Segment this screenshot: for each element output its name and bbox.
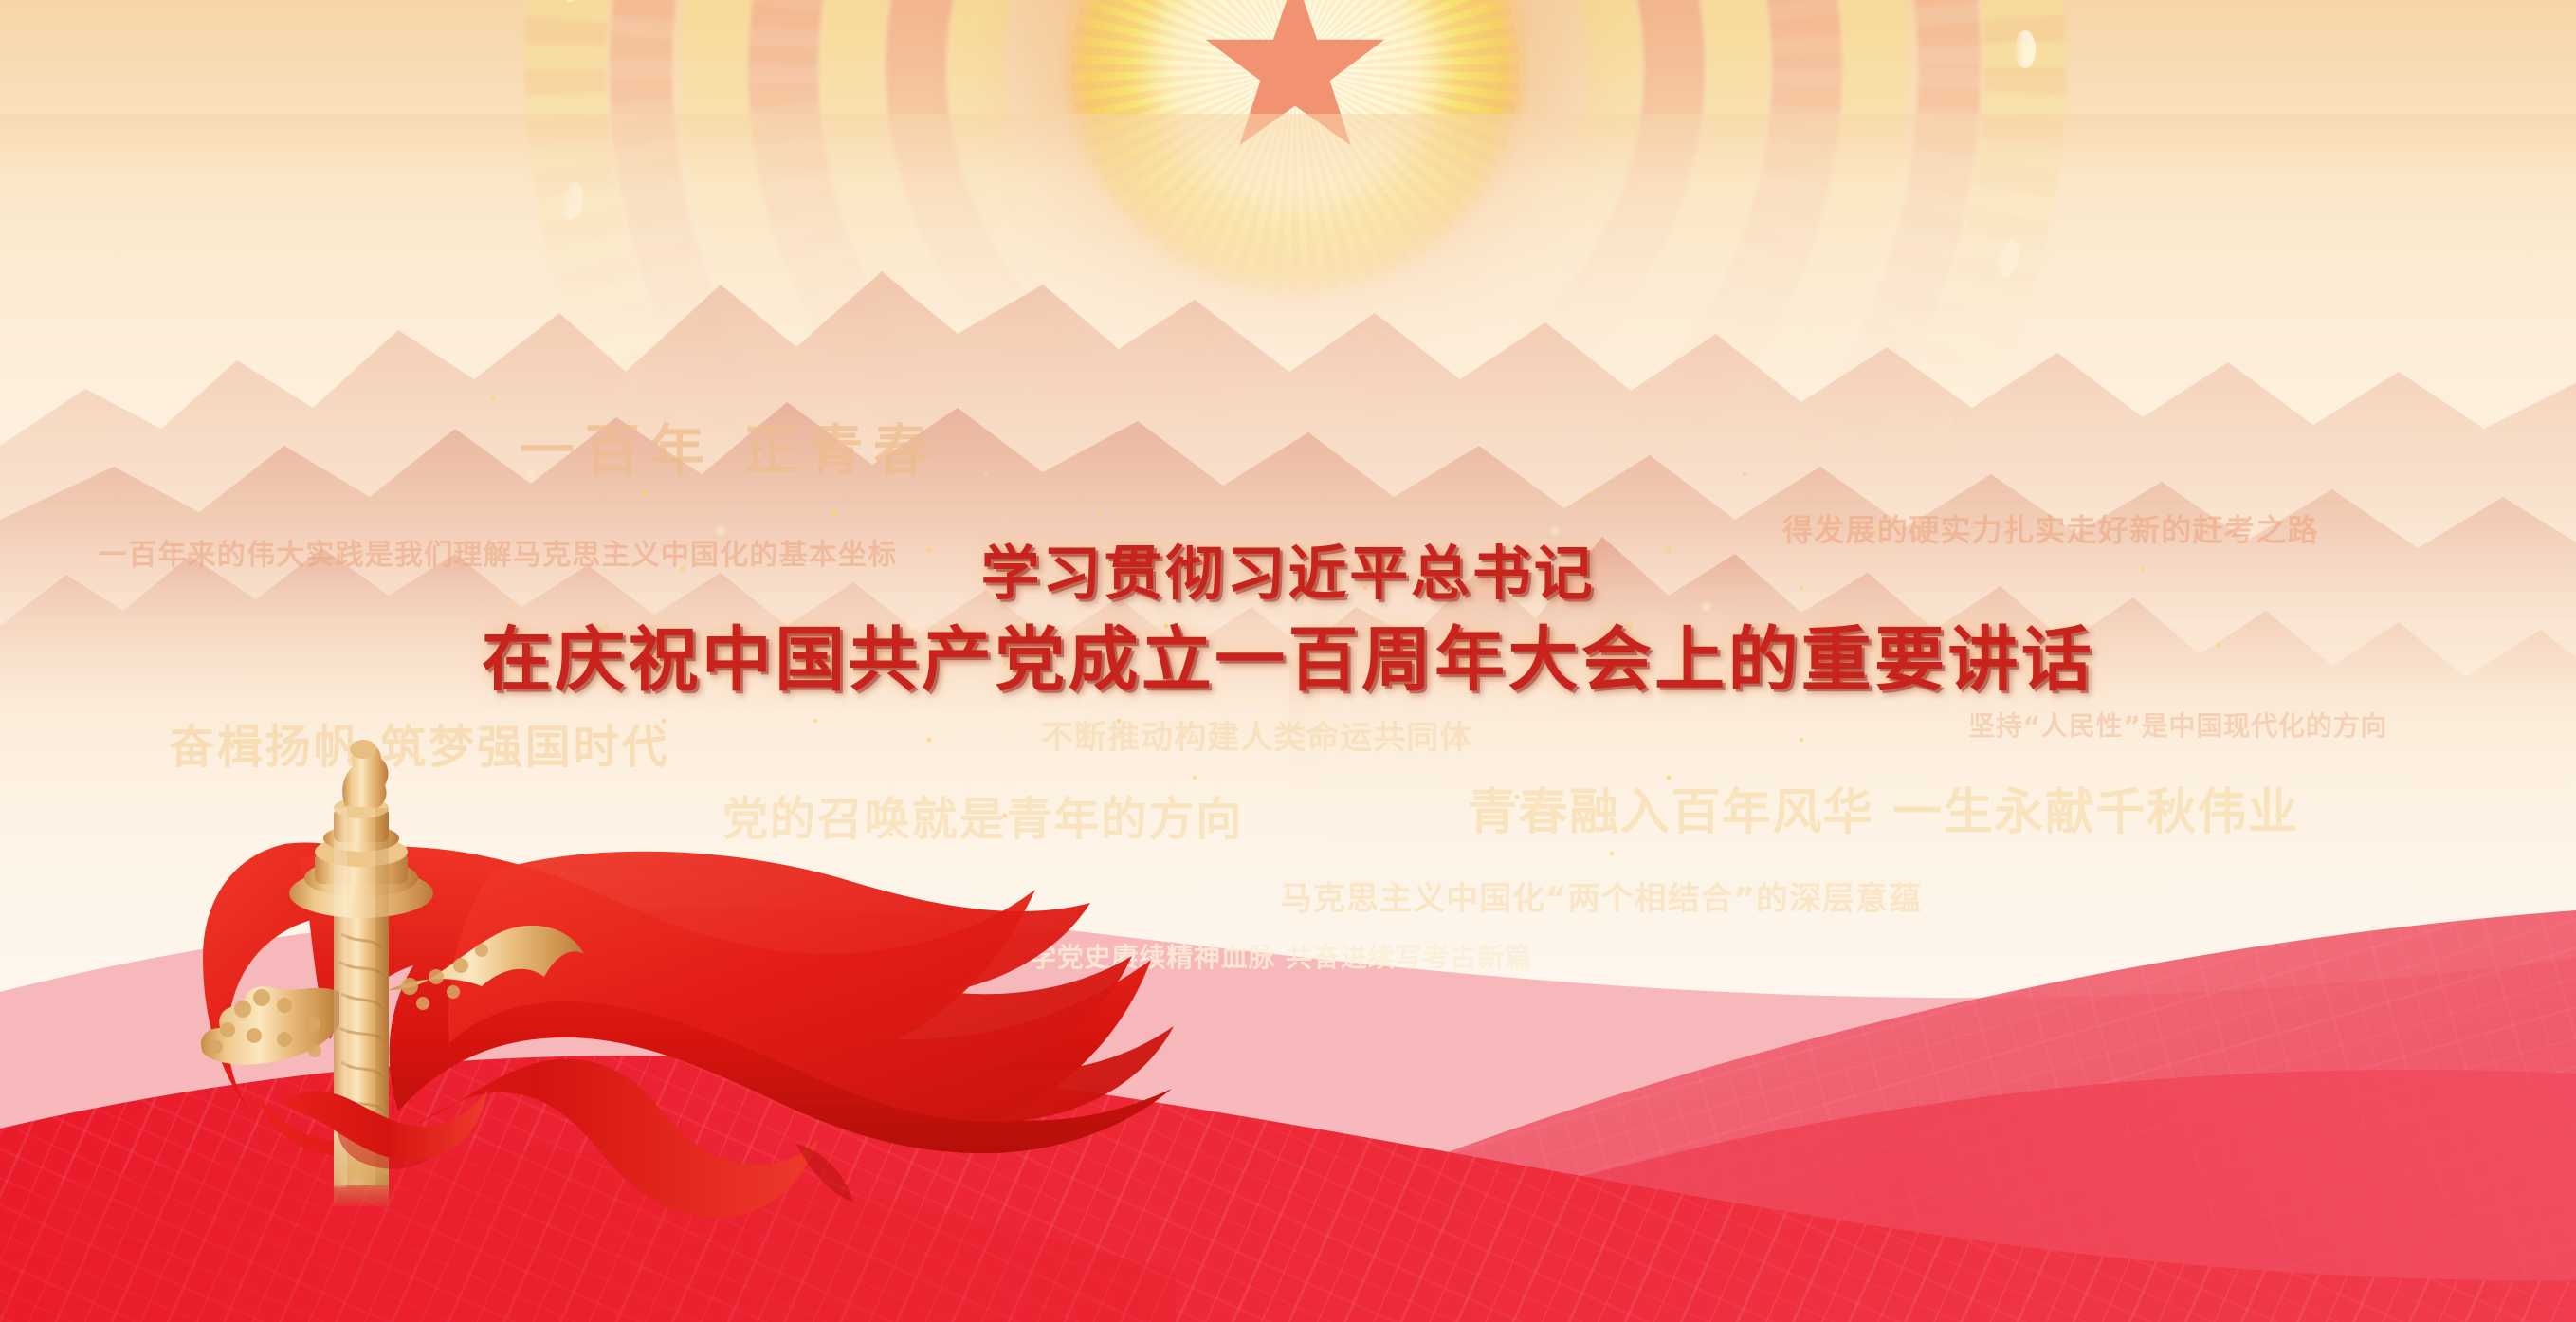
poster-canvas: 一百年 正青春 一百年来的伟大实践是我们理解马克思主义中国化的基本坐标 得发展的… bbox=[0, 0, 2576, 1322]
huabiao-and-flag-group bbox=[0, 0, 2576, 1322]
